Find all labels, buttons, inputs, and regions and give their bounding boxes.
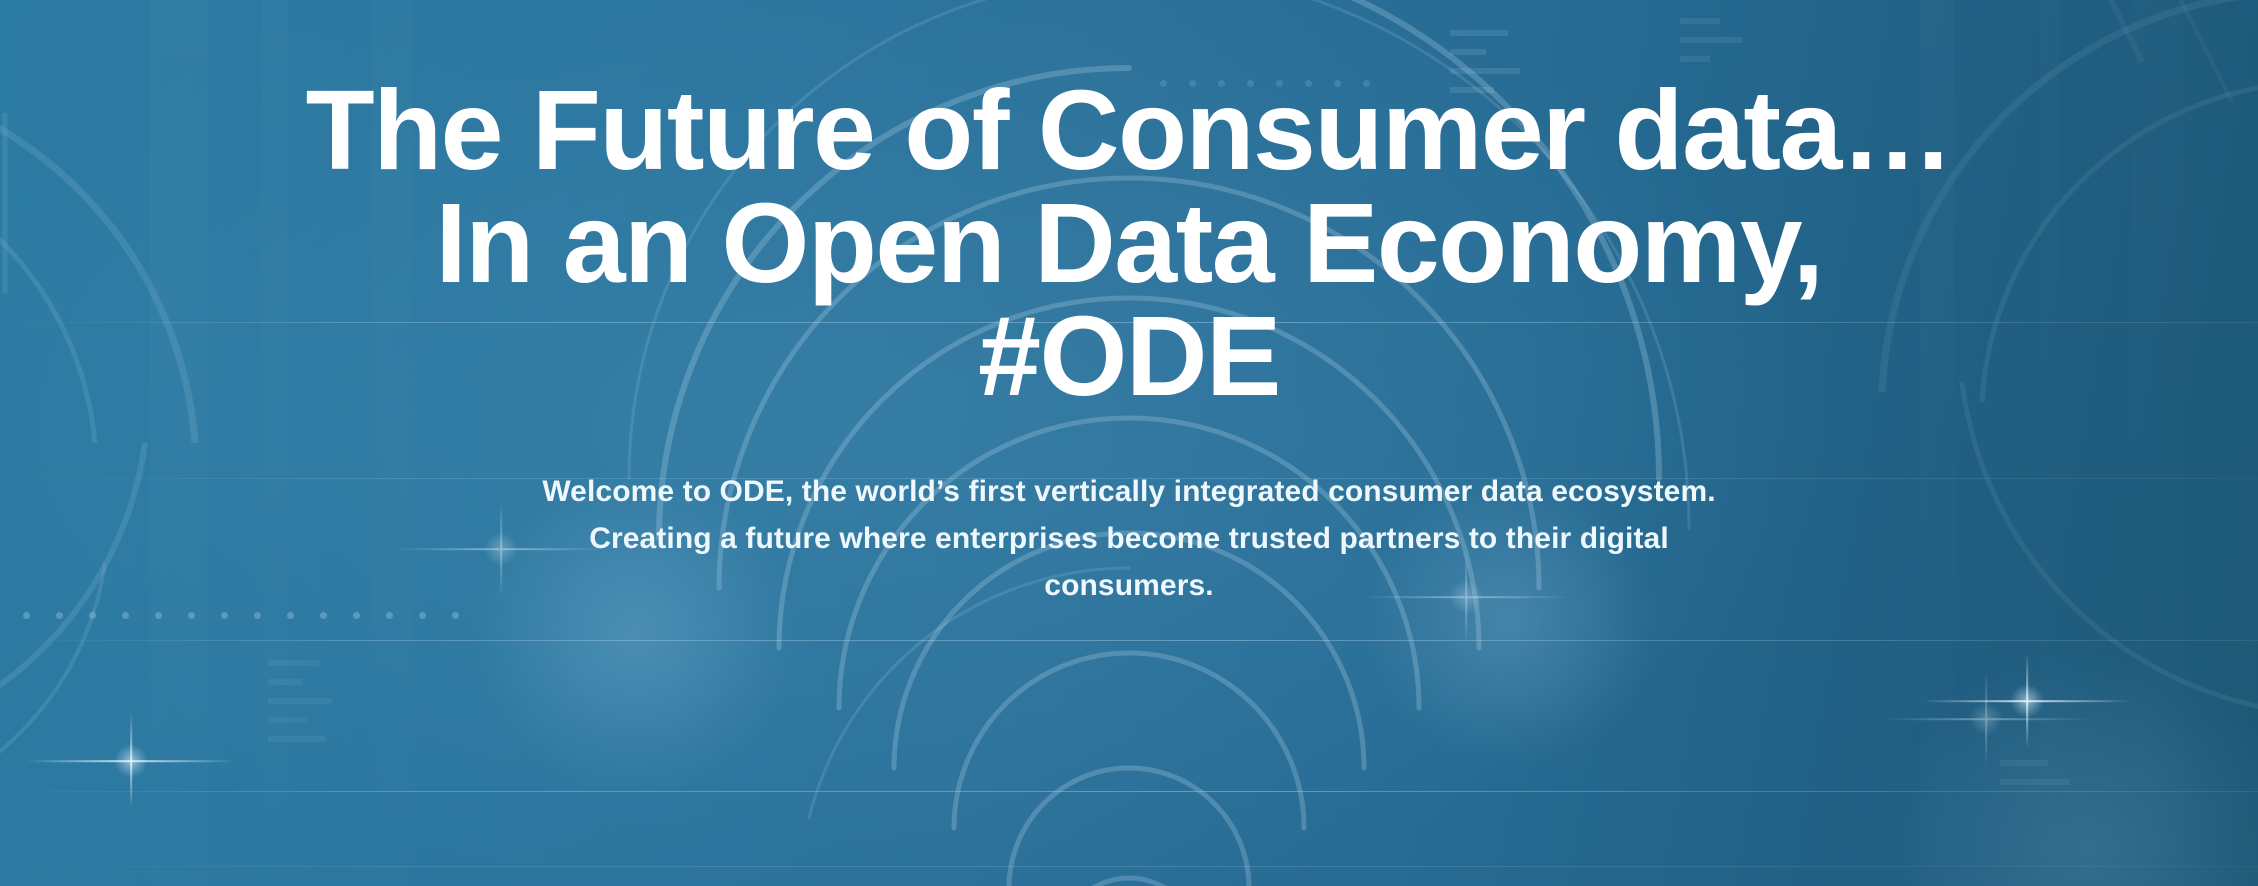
hero-content: The Future of Consumer data… In an Open … — [0, 0, 2258, 886]
subcopy-line-1: Welcome to ODE, the world’s first vertic… — [542, 475, 1715, 508]
headline-line-1: The Future of Consumer data… — [306, 67, 1953, 193]
hero-subcopy: Welcome to ODE, the world’s first vertic… — [529, 469, 1729, 609]
headline-line-3: #ODE — [306, 300, 1953, 413]
hero-banner: The Future of Consumer data… In an Open … — [0, 0, 2258, 886]
subcopy-line-2: Creating a future where enterprises beco… — [589, 522, 1669, 555]
headline-line-2: In an Open Data Economy, — [306, 187, 1953, 300]
subcopy-line-3: consumers. — [1044, 569, 1213, 602]
page-title: The Future of Consumer data… In an Open … — [306, 74, 1953, 413]
